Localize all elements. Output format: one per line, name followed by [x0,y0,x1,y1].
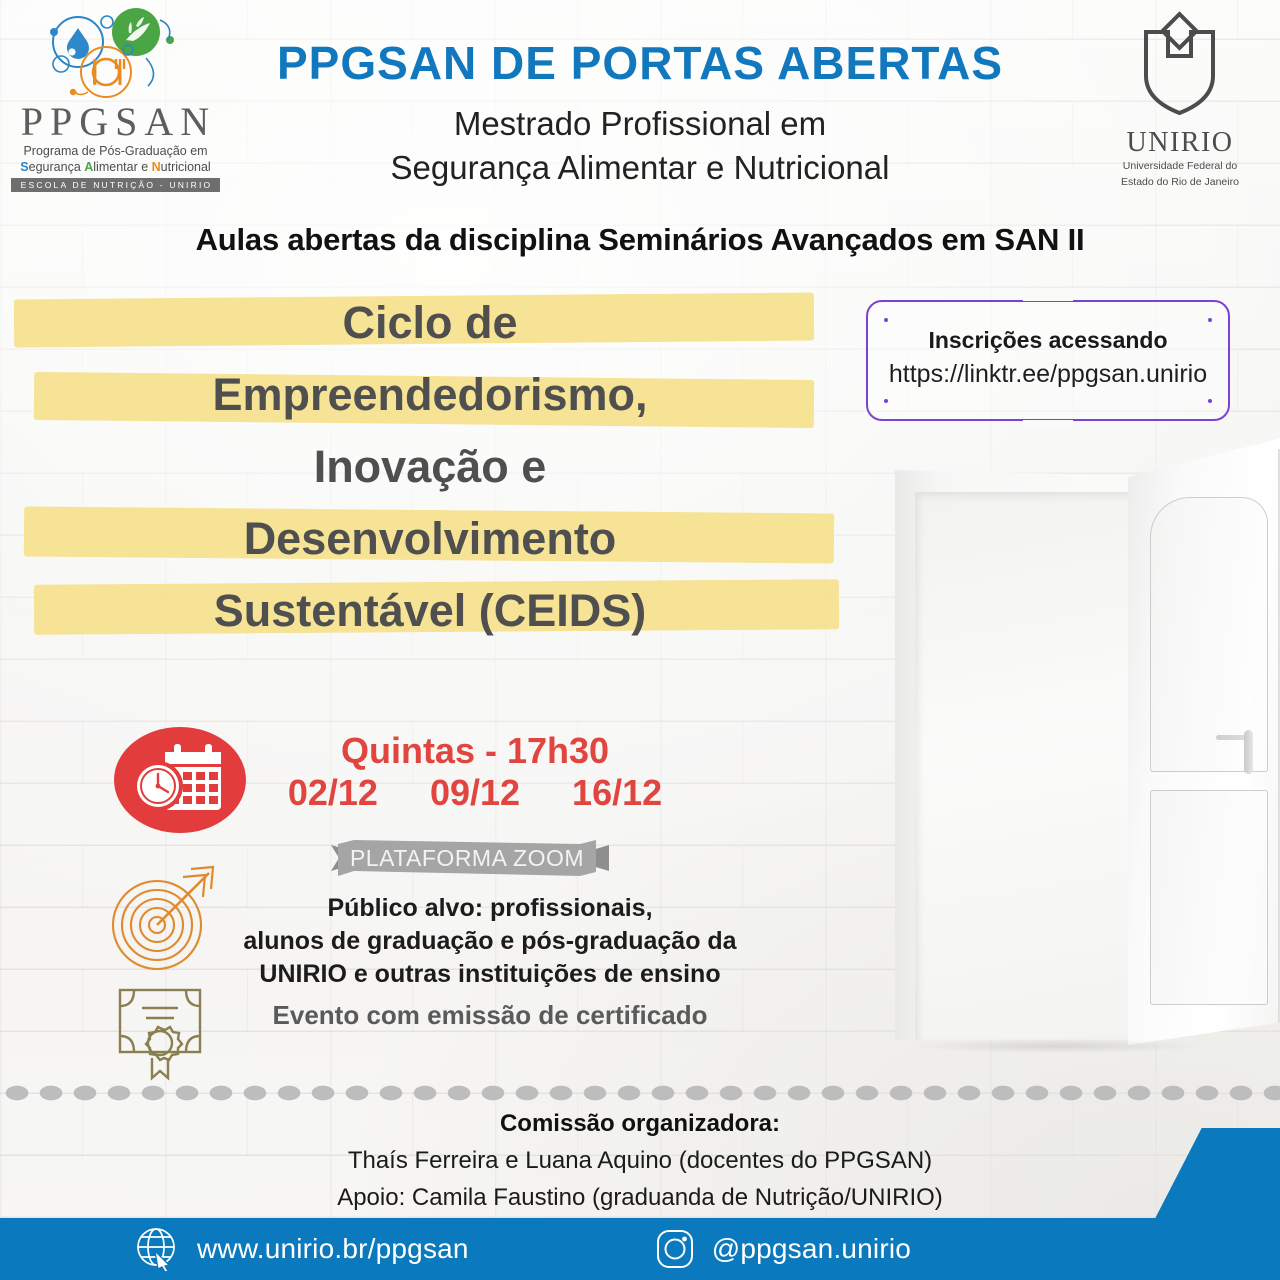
organizing-committee: Comissão organizadora: Thaís Ferreira e … [0,1110,1280,1212]
open-door-illustration [870,430,1280,1080]
poster-canvas: PPGSAN Programa de Pós-Graduação em Segu… [0,0,1280,1280]
callout-corner-dot [884,318,888,322]
event-title-line: Inovação e [0,444,860,489]
schedule-date: 02/12 [288,772,378,814]
callout-notch-bottom [1020,420,1076,438]
audience-line-2: alunos de graduação e pós-graduação da [180,925,800,958]
registration-callout[interactable]: Inscrições acessando https://linktr.ee/p… [866,300,1230,421]
committee-heading: Comissão organizadora: [0,1110,1280,1138]
platform-label: PLATAFORMA ZOOM [338,840,596,876]
subtitle-line-1: Mestrado Profissional em [0,102,1280,146]
door-floor-shadow [900,1038,1280,1054]
course-banner-text: Aulas abertas da disciplina Seminários A… [0,222,1280,258]
event-title-line: Empreendedorismo, [0,372,860,417]
instagram-label: @ppgsan.unirio [712,1233,911,1265]
poster-footer: www.unirio.br/ppgsan @ppgsan.unirio [0,1218,1280,1280]
certificate-text: Evento com emissão de certificado [180,1000,800,1031]
callout-corner-dot [884,399,888,403]
door-panel-bottom [1150,790,1268,1005]
website-link[interactable]: www.unirio.br/ppgsan [135,1226,469,1272]
dotted-divider [0,1082,1280,1104]
registration-link[interactable]: https://linktr.ee/ppgsan.unirio [868,360,1228,389]
instagram-icon [654,1228,696,1270]
callout-corner-dot [1208,318,1212,322]
audience-text: Público alvo: profissionais, alunos de g… [180,892,800,991]
event-title-line: Desenvolvimento [0,516,860,561]
instagram-link[interactable]: @ppgsan.unirio [654,1228,911,1270]
event-title-line: Ciclo de [0,300,860,345]
committee-line-2: Apoio: Camila Faustino (graduanda de Nut… [0,1184,1280,1212]
platform-ribbon: PLATAFORMA ZOOM [338,840,596,876]
callout-notch-top [1020,283,1076,301]
schedule-date: 16/12 [572,772,662,814]
event-title-line: Sustentável (CEIDS) [0,588,860,633]
schedule-date: 09/12 [430,772,520,814]
door-handle-plate [1244,730,1253,774]
schedule-dates: 02/12 09/12 16/12 [205,772,745,814]
audience-line-3: UNIRIO e outras instituições de ensino [180,958,800,991]
certificate-seal-icon [108,980,212,1084]
website-label: www.unirio.br/ppgsan [197,1233,469,1265]
committee-line-1: Thaís Ferreira e Luana Aquino (docentes … [0,1147,1280,1175]
doorway-shadow [915,492,1133,1040]
poster-main-title: PPGSAN DE PORTAS ABERTAS [0,36,1280,90]
event-title-block: Ciclo de Empreendedorismo, Inovação e De… [0,292,860,672]
poster-subtitle: Mestrado Profissional em Segurança Alime… [0,102,1280,189]
globe-cursor-icon [135,1226,181,1272]
schedule-weekday-time: Quintas - 17h30 [205,730,745,772]
audience-line-1: Público alvo: profissionais, [180,892,800,925]
callout-corner-dot [1208,399,1212,403]
door-leaf [1128,435,1280,1045]
registration-label: Inscrições acessando [868,327,1228,354]
subtitle-line-2: Segurança Alimentar e Nutricional [0,146,1280,190]
